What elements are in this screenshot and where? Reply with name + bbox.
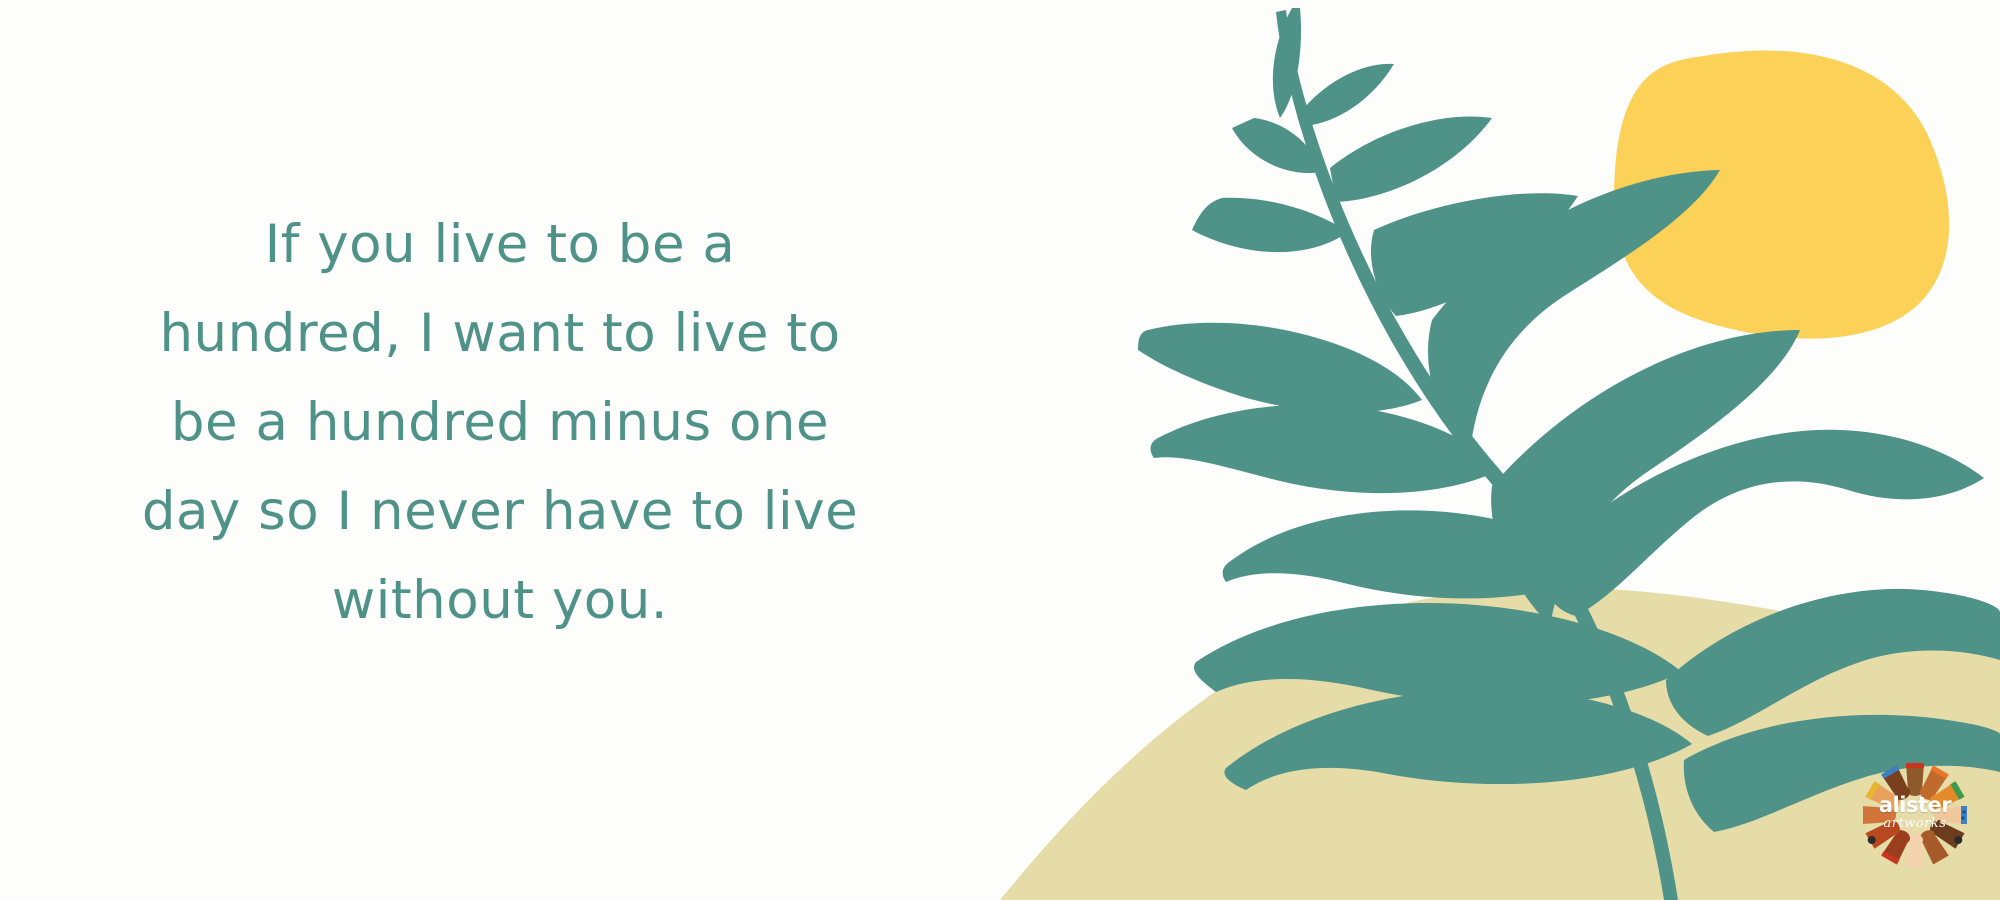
logo-tagline-text: artworks — [1855, 817, 1975, 830]
quote-line-4: day so I never have to live — [120, 467, 880, 556]
quote-line-3: be a hundred minus one — [120, 378, 880, 467]
logo-brand-text: alister — [1855, 795, 1975, 816]
quote-line-1: If you live to be a — [120, 200, 880, 289]
fern-leaf-left-3 — [1138, 323, 1422, 413]
quote-line-5: without you. — [120, 556, 880, 645]
quote-block: If you live to be a hundred, I want to l… — [120, 200, 880, 645]
quote-card: If you live to be a hundred, I want to l… — [0, 0, 2000, 900]
fern-leaflet-upper-right-1 — [1330, 116, 1492, 202]
fern-leaf-left-2 — [1192, 198, 1348, 252]
quote-line-2: hundred, I want to live to — [120, 289, 880, 378]
alister-artworks-logo: alister artworks — [1855, 755, 1975, 875]
fern-leaflet-apex-right — [1304, 64, 1394, 126]
